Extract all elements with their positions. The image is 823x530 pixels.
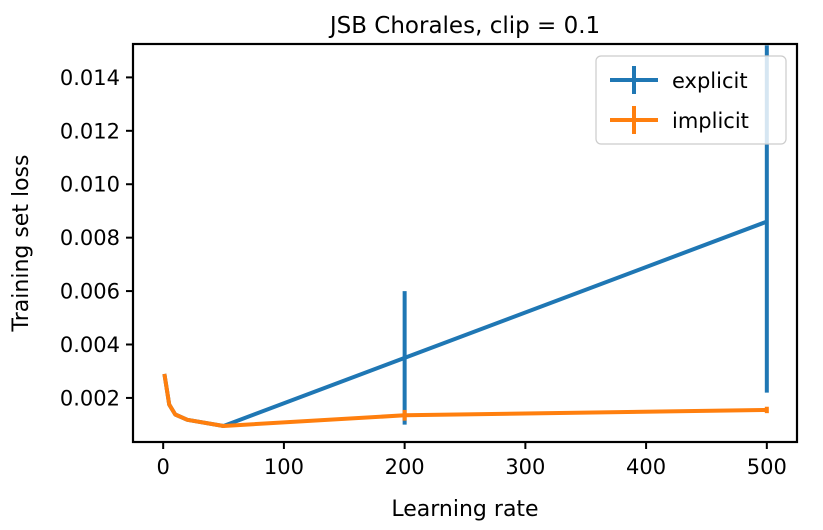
y-axis-title: Training set loss: [9, 155, 34, 333]
figure-canvas: JSB Chorales, clip = 0.1 Training set lo…: [0, 0, 823, 530]
x-tick-label: 300: [505, 455, 545, 479]
x-tick-label: 0: [156, 455, 169, 479]
y-tick-label: 0.002: [60, 386, 120, 410]
legend-label-explicit: explicit: [672, 69, 748, 93]
x-tick-label: 200: [385, 455, 425, 479]
y-tick-label: 0.012: [60, 119, 120, 143]
x-tick-label: 500: [747, 455, 787, 479]
y-tick-label: 0.014: [60, 66, 120, 90]
chart-legend[interactable]: explicitimplicit: [596, 56, 786, 144]
y-tick-label: 0.008: [60, 226, 120, 250]
chart-title: JSB Chorales, clip = 0.1: [328, 13, 600, 39]
legend-label-implicit: implicit: [672, 109, 749, 133]
x-tick-label: 100: [264, 455, 304, 479]
chart-plot: JSB Chorales, clip = 0.1 Training set lo…: [0, 0, 823, 530]
y-tick-label: 0.010: [60, 173, 120, 197]
x-tick-label: 400: [626, 455, 666, 479]
y-tick-label: 0.006: [60, 280, 120, 304]
x-axis-title: Learning rate: [391, 497, 538, 522]
y-tick-label: 0.004: [60, 333, 120, 357]
